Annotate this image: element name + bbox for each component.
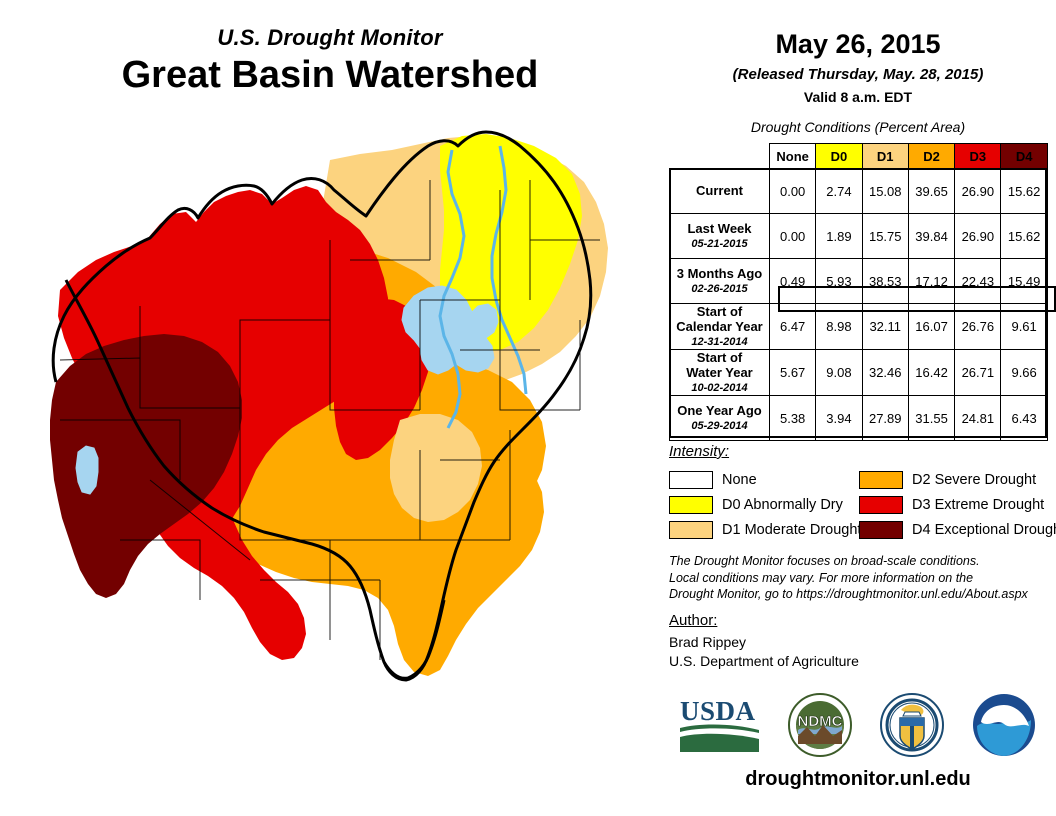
row-label-text: Start of Calendar Year bbox=[676, 304, 762, 334]
drought-conditions-table: None D0 D1 D2 D3 D4 Current 0.00 2.7 bbox=[669, 143, 1047, 441]
cell-d2: 17.12 bbox=[908, 259, 954, 304]
cell-d1: 27.89 bbox=[862, 396, 908, 441]
row-label-start-calendar-year: Start of Calendar Year 12-31-2014 bbox=[670, 304, 770, 350]
row-label-current: Current bbox=[670, 169, 770, 214]
cell-d1: 38.53 bbox=[862, 259, 908, 304]
legend-item-none: None bbox=[669, 471, 859, 489]
cell-d3: 26.90 bbox=[955, 214, 1001, 259]
noaa-logo: NOAA bbox=[969, 692, 1039, 758]
website-url[interactable]: droughtmonitor.unl.edu bbox=[660, 768, 1056, 791]
table-row: Last Week 05-21-2015 0.00 1.89 15.75 39.… bbox=[670, 214, 1048, 259]
cell-none: 0.00 bbox=[770, 214, 816, 259]
disclaimer-line-1: The Drought Monitor focuses on broad-sca… bbox=[669, 553, 1051, 570]
ndmc-logo: NDMC bbox=[785, 692, 855, 758]
author-name: Brad Rippey bbox=[669, 633, 1049, 652]
cell-d3: 22.43 bbox=[955, 259, 1001, 304]
header-d4: D4 bbox=[1001, 144, 1047, 169]
title-subtitle: U.S. Drought Monitor bbox=[0, 26, 660, 50]
cell-d4: 6.43 bbox=[1001, 396, 1047, 441]
row-label-date: 12-31-2014 bbox=[670, 336, 769, 349]
row-label-start-water-year: Start of Water Year 10-02-2014 bbox=[670, 350, 770, 396]
cell-d1: 32.11 bbox=[862, 304, 908, 350]
page-title: U.S. Drought Monitor Great Basin Watersh… bbox=[0, 26, 660, 98]
svg-text:NOAA: NOAA bbox=[988, 709, 1020, 721]
drought-monitor-page: U.S. Drought Monitor Great Basin Watersh… bbox=[0, 0, 1056, 816]
usda-logo: USDA bbox=[677, 692, 763, 758]
legend-swatch-d3 bbox=[859, 496, 903, 514]
cell-d2: 16.42 bbox=[908, 350, 954, 396]
legend-swatch-d0 bbox=[669, 496, 713, 514]
disclaimer-line-2: Local conditions may vary. For more info… bbox=[669, 570, 1051, 587]
report-date: May 26, 2015 bbox=[660, 30, 1056, 60]
info-panel: May 26, 2015 (Released Thursday, May. 28… bbox=[660, 0, 1056, 816]
author-block: Author: Brad Rippey U.S. Department of A… bbox=[669, 612, 1049, 671]
logo-row: USDA NDMC bbox=[660, 692, 1056, 758]
map-watershed-layer bbox=[50, 132, 608, 680]
legend-item-d2: D2 Severe Drought bbox=[859, 471, 1049, 489]
cell-d4: 15.49 bbox=[1001, 259, 1047, 304]
cell-d0: 2.74 bbox=[816, 169, 862, 214]
row-label-date: 05-29-2014 bbox=[670, 420, 769, 433]
header-d0: D0 bbox=[816, 144, 862, 169]
table-row: 3 Months Ago 02-26-2015 0.49 5.93 38.53 … bbox=[670, 259, 1048, 304]
header-d1: D1 bbox=[862, 144, 908, 169]
row-label-text: One Year Ago bbox=[677, 403, 762, 418]
legend-item-d4: D4 Exceptional Drought bbox=[859, 521, 1049, 539]
legend-swatch-d1 bbox=[669, 521, 713, 539]
cell-none: 0.49 bbox=[770, 259, 816, 304]
legend-label-d2: D2 Severe Drought bbox=[912, 472, 1036, 488]
cell-d1: 32.46 bbox=[862, 350, 908, 396]
legend-label-d1: D1 Moderate Drought bbox=[722, 522, 861, 538]
cell-d0: 9.08 bbox=[816, 350, 862, 396]
legend-item-d1: D1 Moderate Drought bbox=[669, 521, 859, 539]
table-body: Current 0.00 2.74 15.08 39.65 26.90 15.6… bbox=[670, 169, 1048, 441]
cell-d0: 1.89 bbox=[816, 214, 862, 259]
release-date: (Released Thursday, May. 28, 2015) bbox=[660, 66, 1056, 83]
cell-d3: 24.81 bbox=[955, 396, 1001, 441]
cell-d4: 15.62 bbox=[1001, 169, 1047, 214]
cell-d4: 15.62 bbox=[1001, 214, 1047, 259]
legend-swatch-d2 bbox=[859, 471, 903, 489]
header-none: None bbox=[770, 144, 816, 169]
cell-d4: 9.61 bbox=[1001, 304, 1047, 350]
legend-swatch-none bbox=[669, 471, 713, 489]
row-label-date: 02-26-2015 bbox=[670, 283, 769, 296]
cell-d0: 5.93 bbox=[816, 259, 862, 304]
cell-d3: 26.90 bbox=[955, 169, 1001, 214]
legend-label-d4: D4 Exceptional Drought bbox=[912, 522, 1056, 538]
table-row: Start of Calendar Year 12-31-2014 6.47 8… bbox=[670, 304, 1048, 350]
usdc-seal-logo bbox=[877, 692, 947, 758]
cell-none: 5.67 bbox=[770, 350, 816, 396]
drought-map[interactable] bbox=[0, 120, 660, 700]
legend-item-d0: D0 Abnormally Dry bbox=[669, 496, 859, 514]
disclaimer-line-3: Drought Monitor, go to https://droughtmo… bbox=[669, 586, 1051, 603]
cell-d2: 39.65 bbox=[908, 169, 954, 214]
table-row: Current 0.00 2.74 15.08 39.65 26.90 15.6… bbox=[670, 169, 1048, 214]
cell-none: 5.38 bbox=[770, 396, 816, 441]
svg-text:NDMC: NDMC bbox=[798, 713, 843, 730]
cell-none: 6.47 bbox=[770, 304, 816, 350]
cell-d3: 26.76 bbox=[955, 304, 1001, 350]
row-label-text: Last Week bbox=[687, 221, 751, 236]
legend-label-d3: D3 Extreme Drought bbox=[912, 497, 1044, 513]
cell-d3: 26.71 bbox=[955, 350, 1001, 396]
legend-item-d3: D3 Extreme Drought bbox=[859, 496, 1049, 514]
cell-d0: 3.94 bbox=[816, 396, 862, 441]
row-label-last-week: Last Week 05-21-2015 bbox=[670, 214, 770, 259]
author-org: U.S. Department of Agriculture bbox=[669, 652, 1049, 671]
row-label-date: 05-21-2015 bbox=[670, 238, 769, 251]
cell-d4: 9.66 bbox=[1001, 350, 1047, 396]
cell-d1: 15.75 bbox=[862, 214, 908, 259]
row-label-text: Start of Water Year bbox=[686, 350, 753, 380]
row-label-3-months-ago: 3 Months Ago 02-26-2015 bbox=[670, 259, 770, 304]
legend-label-d0: D0 Abnormally Dry bbox=[722, 497, 843, 513]
header-blank bbox=[670, 144, 770, 169]
row-label-date: 10-02-2014 bbox=[670, 382, 769, 395]
author-title: Author: bbox=[669, 612, 1049, 629]
header-d2: D2 bbox=[908, 144, 954, 169]
cell-d2: 16.07 bbox=[908, 304, 954, 350]
table-caption: Drought Conditions (Percent Area) bbox=[660, 119, 1056, 135]
title-main: Great Basin Watershed bbox=[0, 54, 660, 98]
svg-text:USDA: USDA bbox=[680, 696, 756, 726]
row-label-text: Current bbox=[696, 183, 743, 198]
intensity-title: Intensity: bbox=[669, 443, 1049, 460]
valid-time: Valid 8 a.m. EDT bbox=[660, 89, 1056, 105]
table-row: Start of Water Year 10-02-2014 5.67 9.08… bbox=[670, 350, 1048, 396]
row-label-one-year-ago: One Year Ago 05-29-2014 bbox=[670, 396, 770, 441]
table-row: One Year Ago 05-29-2014 5.38 3.94 27.89 … bbox=[670, 396, 1048, 441]
cell-none: 0.00 bbox=[770, 169, 816, 214]
cell-d2: 39.84 bbox=[908, 214, 954, 259]
row-label-text: 3 Months Ago bbox=[677, 266, 762, 281]
legend-label-none: None bbox=[722, 472, 757, 488]
header-d3: D3 bbox=[955, 144, 1001, 169]
intensity-legend: Intensity: None D2 Severe Drought D0 Abn… bbox=[669, 443, 1049, 542]
cell-d2: 31.55 bbox=[908, 396, 954, 441]
cell-d0: 8.98 bbox=[816, 304, 862, 350]
table-header-row: None D0 D1 D2 D3 D4 bbox=[670, 144, 1048, 169]
disclaimer-text: The Drought Monitor focuses on broad-sca… bbox=[669, 553, 1051, 603]
cell-d1: 15.08 bbox=[862, 169, 908, 214]
legend-swatch-d4 bbox=[859, 521, 903, 539]
